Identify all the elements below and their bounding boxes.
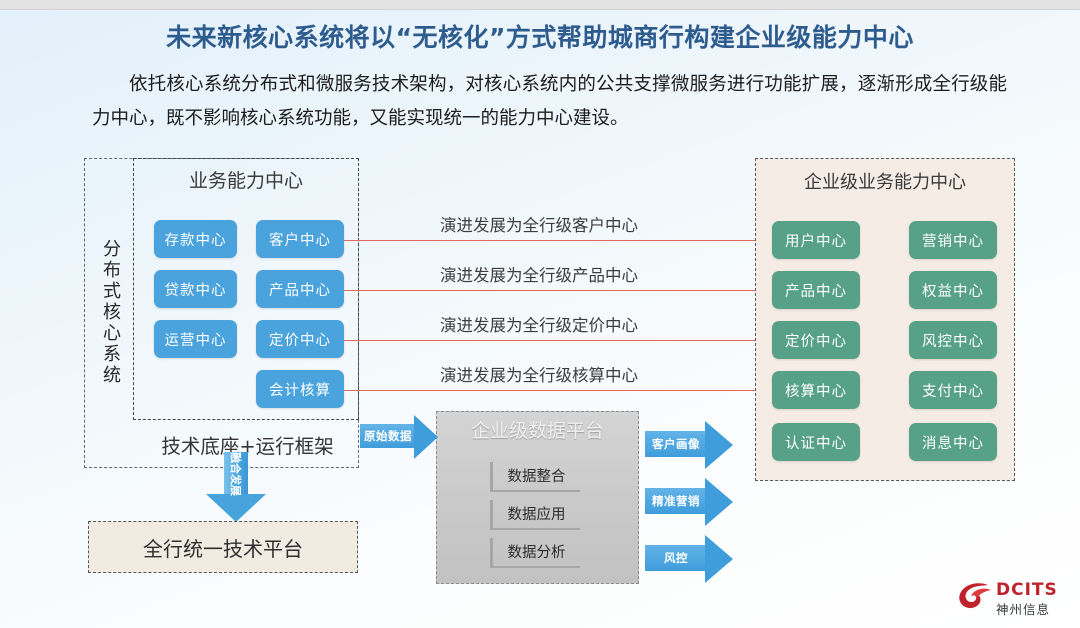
chip-product-center[interactable]: 产品中心 [256,270,344,308]
company-logo: DCITS 神州信息 [958,578,1070,620]
slide-background: 未来新核心系统将以“无核化”方式帮助城商行构建企业级能力中心 依托核心系统分布式… [0,0,1080,628]
evolution-line-4 [344,390,760,391]
unified-tech-platform-box: 全行统一技术平台 [88,521,358,573]
risk-control-arrow-head [705,535,733,583]
down-arrow-label: 融合发展 [216,442,256,506]
customer-profile-arrow-label: 客户画像 [645,436,707,452]
integration-down-arrow: 融合发展 [206,452,266,522]
logo-name: DCITS [996,580,1058,600]
chip-message-center[interactable]: 消息中心 [909,423,997,461]
data-platform-item-analysis[interactable]: 数据分析 [490,538,580,568]
enterprise-capability-center-title: 企业级业务能力中心 [755,168,1015,194]
chip-rights-center[interactable]: 权益中心 [909,271,997,309]
chip-accounting[interactable]: 会计核算 [256,370,344,408]
raw-data-arrow-head [414,415,438,459]
chip-accounting-center[interactable]: 核算中心 [772,371,860,409]
chip-payment-center[interactable]: 支付中心 [909,371,997,409]
chip-marketing-center[interactable]: 营销中心 [909,221,997,259]
customer-profile-arrow: 客户画像 [645,421,733,469]
evolution-line-1 [344,240,760,241]
customer-profile-arrow-head [705,421,733,469]
precision-marketing-arrow-head [705,478,733,526]
dcits-swirl-icon [958,581,992,611]
distributed-core-vertical-label: 分布式核心系统 [88,216,132,408]
evolution-line-3 [344,340,760,341]
evolution-label-3: 演进发展为全行级定价中心 [440,312,638,336]
chip-ent-product-center[interactable]: 产品中心 [772,271,860,309]
chip-pricing-center[interactable]: 定价中心 [256,320,344,358]
risk-control-arrow: 风控 [645,535,733,583]
top-strip [0,0,1080,10]
chip-loan-center[interactable]: 贷款中心 [154,270,237,308]
precision-marketing-arrow-label: 精准营销 [645,493,707,509]
evolution-label-4: 演进发展为全行级核算中心 [440,362,638,386]
risk-control-arrow-label: 风控 [645,550,707,566]
logo-cn-name: 神州信息 [996,599,1050,618]
chip-ent-pricing-center[interactable]: 定价中心 [772,321,860,359]
evolution-label-1: 演进发展为全行级客户中心 [440,212,638,236]
raw-data-arrow-label: 原始数据 [360,428,416,444]
chip-operation-center[interactable]: 运营中心 [154,320,237,358]
evolution-label-2: 演进发展为全行级产品中心 [440,262,638,286]
page-subtitle: 依托核心系统分布式和微服务技术架构，对核心系统内的公共支撑微服务进行功能扩展，逐… [92,68,1007,136]
enterprise-data-platform-title: 企业级数据平台 [436,416,639,443]
raw-data-arrow: 原始数据 [360,415,438,459]
page-title: 未来新核心系统将以“无核化”方式帮助城商行构建企业级能力中心 [0,18,1080,54]
chip-risk-control-center[interactable]: 风控中心 [909,321,997,359]
chip-authentication-center[interactable]: 认证中心 [772,423,860,461]
precision-marketing-arrow: 精准营销 [645,478,733,526]
data-platform-item-application[interactable]: 数据应用 [490,500,580,530]
chip-deposit-center[interactable]: 存款中心 [154,220,237,258]
business-capability-center-title: 业务能力中心 [133,166,359,193]
chip-user-center[interactable]: 用户中心 [772,221,860,259]
data-platform-item-integration[interactable]: 数据整合 [490,462,580,492]
evolution-line-2 [344,290,760,291]
chip-customer-center[interactable]: 客户中心 [256,220,344,258]
